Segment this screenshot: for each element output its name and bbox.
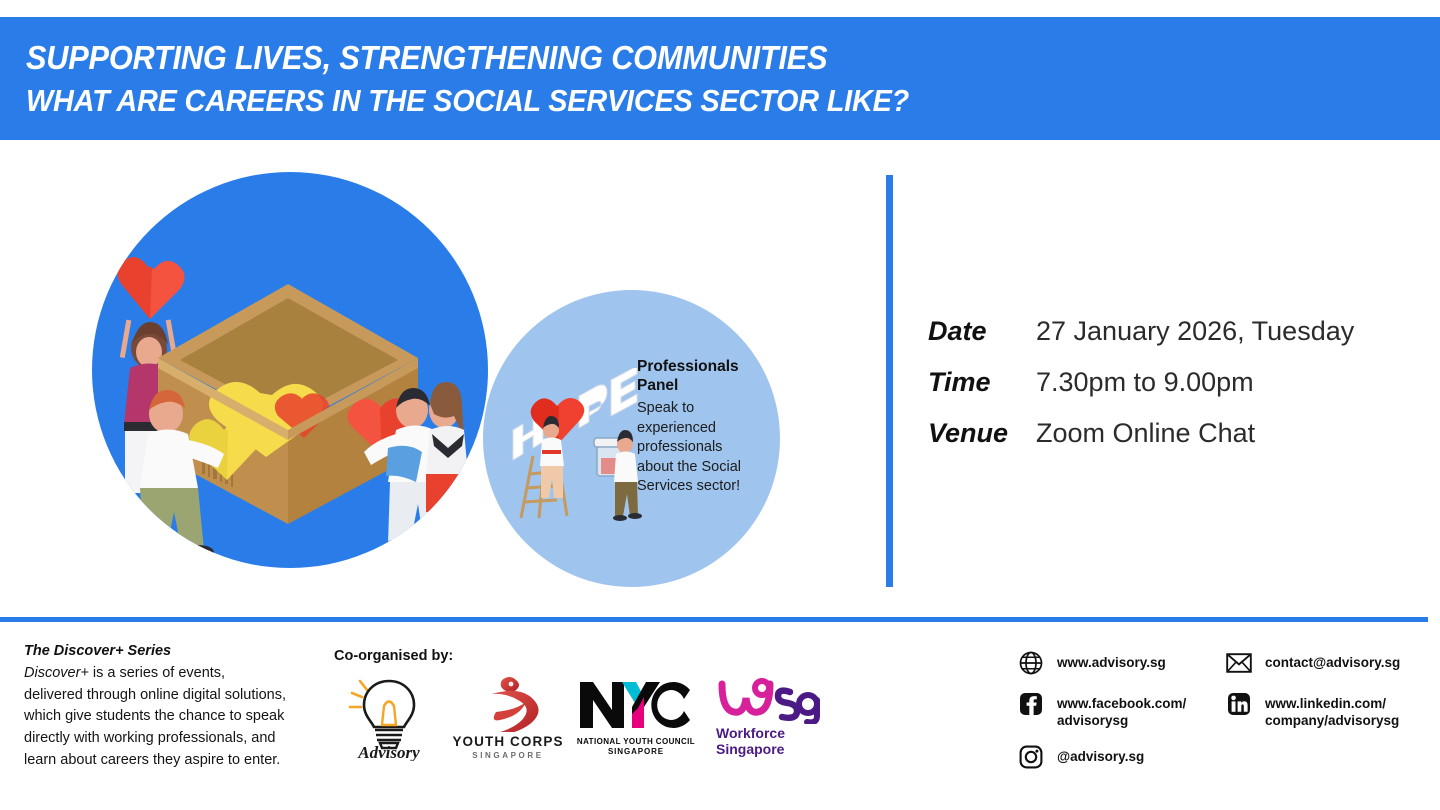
main-stage: Professionals Panel Speak to experienced… xyxy=(0,140,1440,619)
event-value-time: 7.30pm to 9.00pm xyxy=(1036,367,1354,398)
contact-instagram[interactable]: @advisory.sg xyxy=(1018,744,1218,770)
globe-icon xyxy=(1018,650,1044,676)
discover-series-title: The Discover+ Series xyxy=(24,641,286,662)
contact-linkedin[interactable]: www.linkedin.com/ company/advisorysg xyxy=(1226,691,1438,729)
discover-series-block: The Discover+ Series Discover+ is a seri… xyxy=(24,641,286,772)
facebook-icon-svg xyxy=(1019,692,1043,716)
nyc-mark-icon xyxy=(576,678,696,736)
panel-body: Speak to experienced professionals about… xyxy=(637,399,755,497)
wsg-mark-icon xyxy=(716,678,824,724)
page-title-primary: SUPPORTING LIVES, STRENGTHENING COMMUNIT… xyxy=(26,36,1341,80)
wsg-line-2: Singapore xyxy=(716,741,785,757)
nyc-line-1: NATIONAL YOUTH COUNCIL xyxy=(577,737,695,746)
contact-facebook[interactable]: www.facebook.com/ advisorysg xyxy=(1018,691,1218,729)
globe-icon-svg xyxy=(1019,651,1043,675)
event-value-venue: Zoom Online Chat xyxy=(1036,418,1354,449)
footer: The Discover+ Series Discover+ is a seri… xyxy=(0,622,1440,810)
event-value-date: 27 January 2026, Tuesday xyxy=(1036,316,1354,347)
co-organised-block: Co-organised by: xyxy=(334,648,828,762)
advisory-lightbulb-icon: Advisory xyxy=(346,673,432,761)
youth-corps-line-1: YOUTH CORPS xyxy=(452,734,563,749)
instagram-icon xyxy=(1018,744,1044,770)
discover-plus-emphasis: Discover+ xyxy=(24,665,89,681)
donation-box-svg xyxy=(92,172,488,568)
figure-woman-right xyxy=(426,382,477,562)
youth-corps-line-2: SINGAPORE xyxy=(452,751,563,760)
event-label-time: Time xyxy=(928,367,1036,398)
instagram-icon-svg xyxy=(1019,745,1043,769)
contact-email-text: contact@advisory.sg xyxy=(1265,650,1400,671)
page-title-secondary: WHAT ARE CAREERS IN THE SOCIAL SERVICES … xyxy=(26,80,1341,122)
contact-instagram-text: @advisory.sg xyxy=(1057,744,1144,765)
contact-linkedin-text: www.linkedin.com/ company/advisorysg xyxy=(1265,691,1399,729)
event-label-venue: Venue xyxy=(928,418,1036,449)
logo-youth-corps: YOUTH CORPS SINGAPORE xyxy=(444,672,572,762)
header-banner: SUPPORTING LIVES, STRENGTHENING COMMUNIT… xyxy=(0,17,1440,140)
co-organised-label: Co-organised by: xyxy=(334,648,828,664)
event-details-accent-bar xyxy=(886,175,893,587)
event-details: Date 27 January 2026, Tuesday Time 7.30p… xyxy=(928,316,1354,449)
professionals-panel-text: Professionals Panel Speak to experienced… xyxy=(637,357,755,497)
panel-heading: Professionals Panel xyxy=(637,357,755,395)
contact-column-left: www.advisory.sg www.facebook.com/ adviso… xyxy=(1018,650,1218,785)
linkedin-icon xyxy=(1226,691,1252,717)
co-organiser-logos: Advisory xyxy=(334,672,828,762)
facebook-icon xyxy=(1018,691,1044,717)
contact-column-right: contact@advisory.sg www.linkedin.com/ co… xyxy=(1226,650,1438,744)
envelope-icon-svg xyxy=(1226,652,1252,674)
contact-website-text: www.advisory.sg xyxy=(1057,650,1166,671)
envelope-icon xyxy=(1226,650,1252,676)
donation-box-illustration xyxy=(92,172,488,568)
event-label-date: Date xyxy=(928,316,1036,347)
youth-corps-mark-icon xyxy=(466,674,550,732)
figure-with-jar xyxy=(594,430,642,521)
contact-email[interactable]: contact@advisory.sg xyxy=(1226,650,1438,676)
logo-national-youth-council: NATIONAL YOUTH COUNCIL SINGAPORE xyxy=(572,672,700,762)
logo-advisory: Advisory xyxy=(334,672,444,762)
linkedin-icon-svg xyxy=(1227,692,1251,716)
advisory-script-text: Advisory xyxy=(357,743,420,761)
contact-facebook-text: www.facebook.com/ advisorysg xyxy=(1057,691,1186,729)
discover-series-body: Discover+ is a series of events, deliver… xyxy=(24,663,286,772)
contact-website[interactable]: www.advisory.sg xyxy=(1018,650,1218,676)
logo-workforce-singapore: Workforce Singapore xyxy=(700,672,828,762)
wsg-line-1: Workforce xyxy=(716,725,785,741)
nyc-line-2: SINGAPORE xyxy=(577,747,695,756)
